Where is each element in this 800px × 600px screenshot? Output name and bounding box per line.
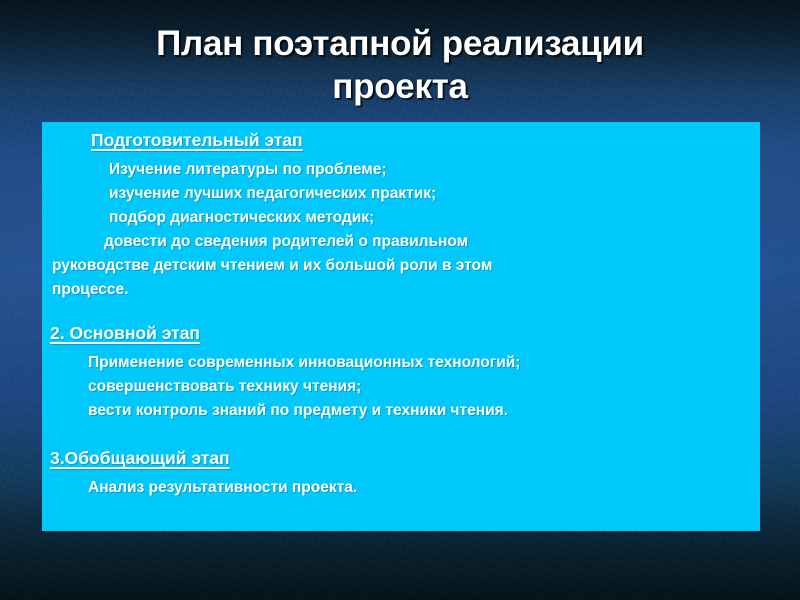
slide: План поэтапной реализации проекта Подгот… [0, 0, 800, 600]
section-3-line-1: Анализ результативности проекта. [48, 476, 750, 500]
section-1-line-6: процессе. [48, 278, 750, 302]
section-1-line-1: Изучение литературы по проблеме; [48, 158, 750, 182]
content-box: Подготовительный этап Изучение литератур… [42, 122, 760, 531]
slide-title: План поэтапной реализации проекта [50, 22, 750, 108]
section-1-line-3: подбор диагностических методик; [48, 206, 750, 230]
section-2-line-2: совершенствовать технику чтения; [48, 375, 750, 399]
section-2-line-1: Применение современных инновационных тех… [48, 351, 750, 375]
section-1-line-2: изучение лучших педагогических практик; [48, 182, 750, 206]
section-1-line-4: довести до сведения родителей о правильн… [48, 230, 750, 254]
section-1-heading: Подготовительный этап [48, 128, 750, 153]
section-1-line-5: руководстве детским чтением и их большой… [48, 254, 750, 278]
section-2-line-3: вести контроль знаний по предмету и техн… [48, 399, 750, 423]
spacer [48, 302, 750, 321]
spacer [48, 423, 750, 446]
section-3-heading: 3.Обобщающий этап [48, 446, 750, 471]
section-2-heading: 2. Основной этап [48, 321, 750, 346]
